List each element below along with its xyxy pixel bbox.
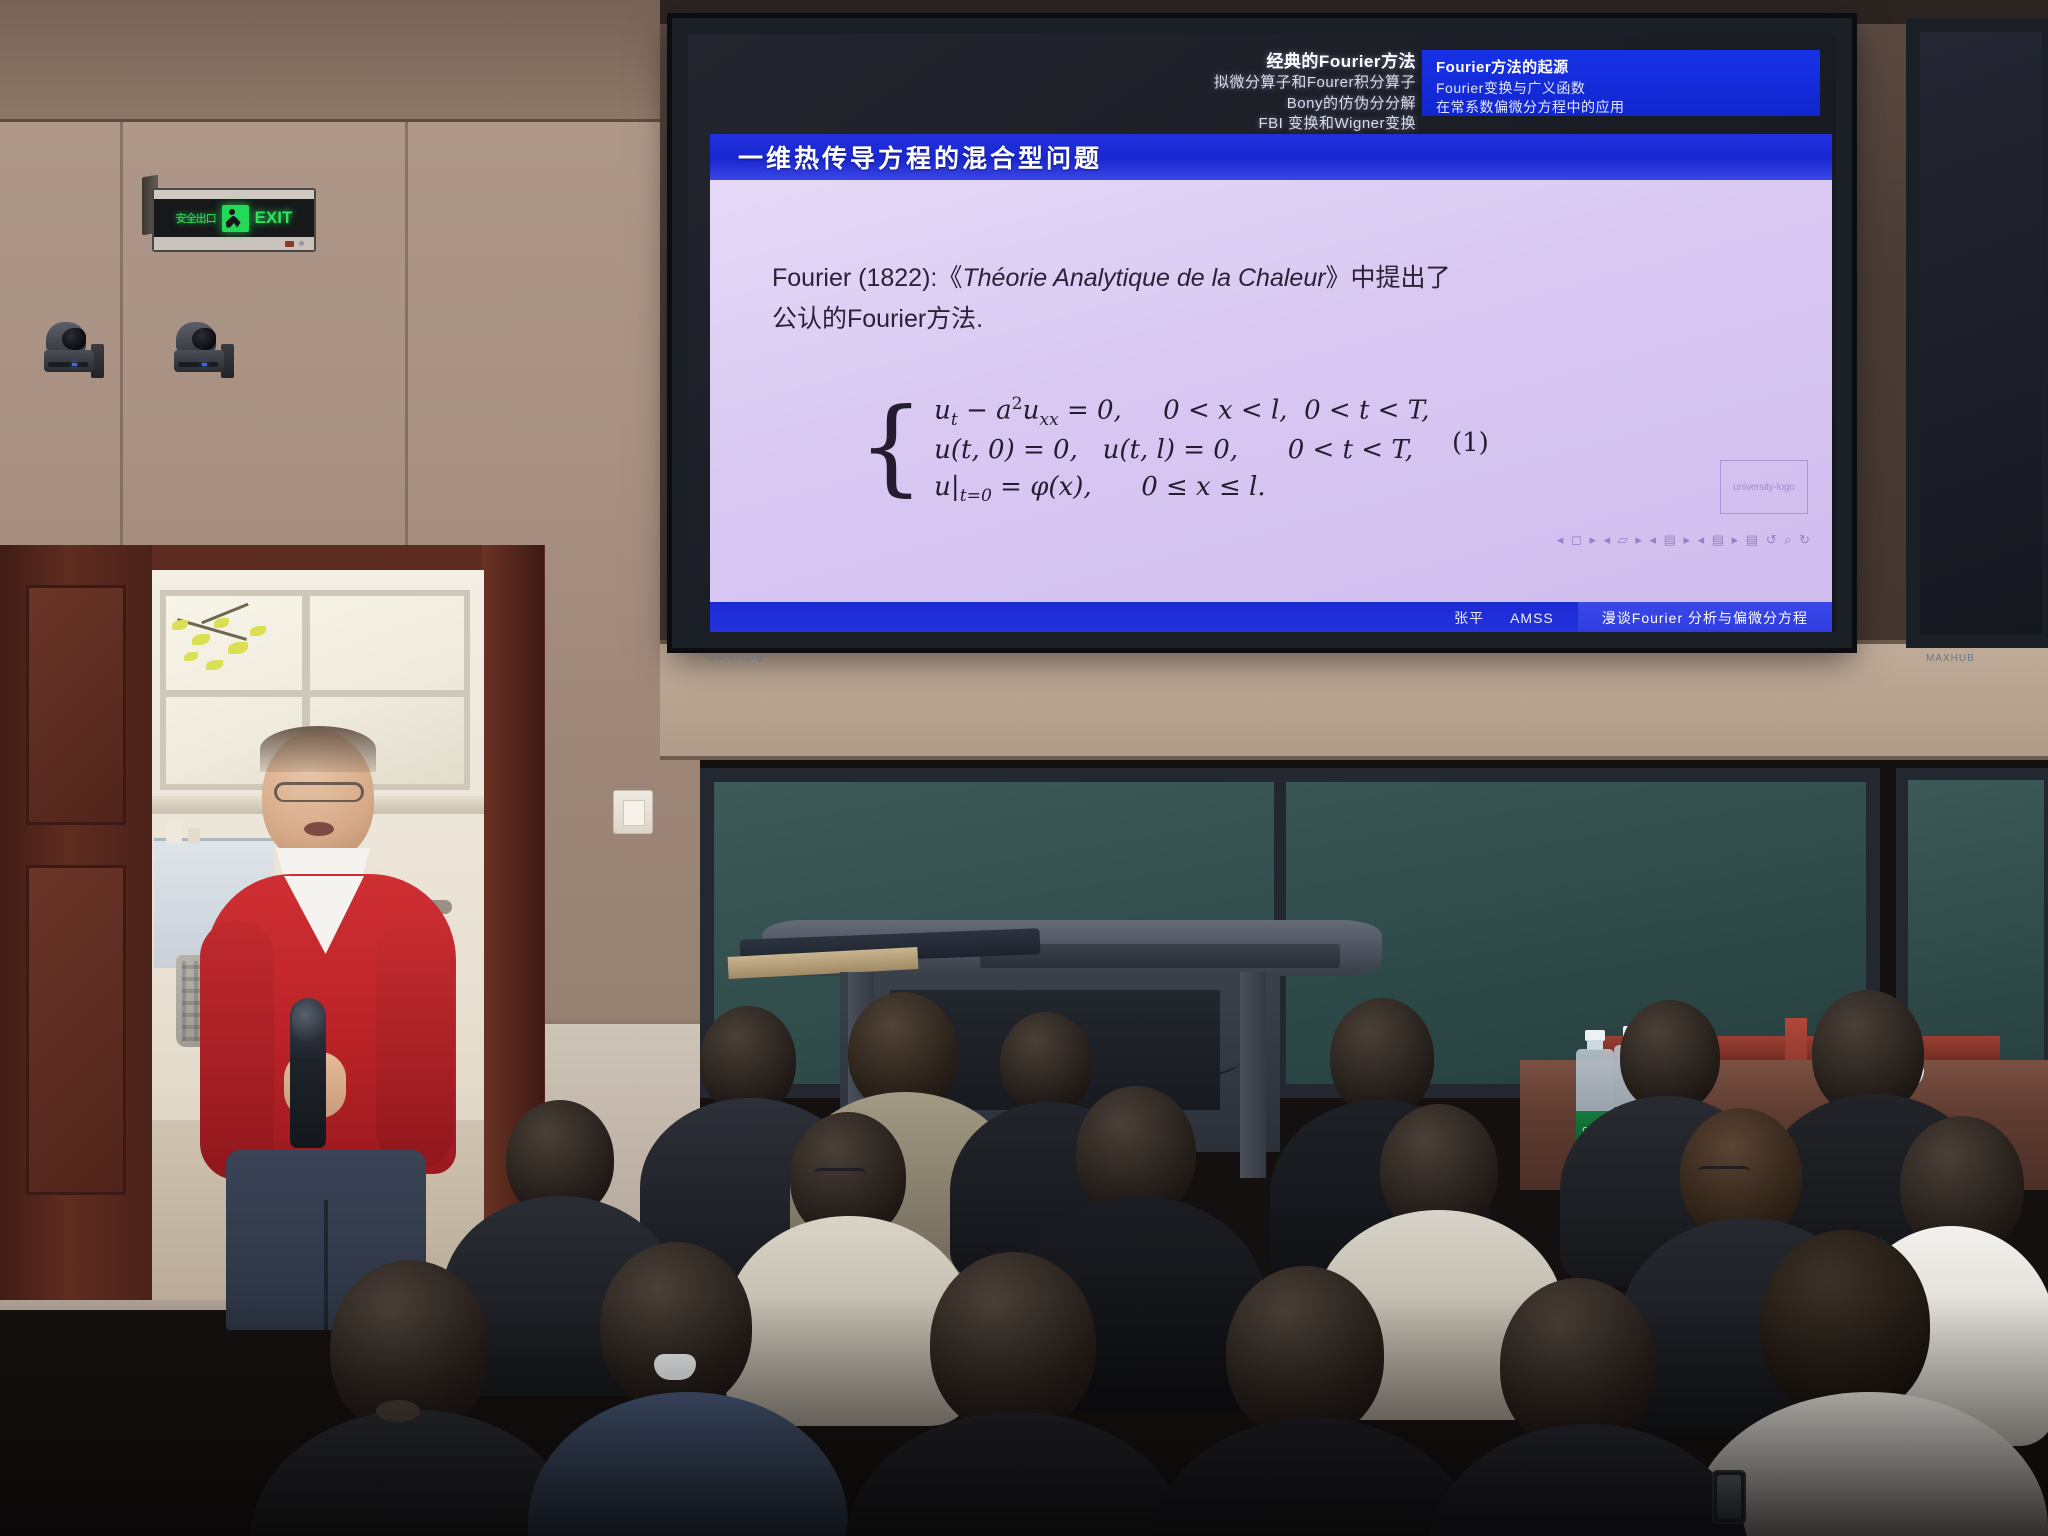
left-brace-icon: { [858,404,924,489]
equation-lines: ut − a2uxx = 0, 0 < x < l, 0 < t < T, u(… [934,392,1429,509]
audience-head [1330,998,1434,1116]
paragraph-suffix: 》中提出了 [1326,264,1451,292]
camera-strip [48,362,88,367]
camera-body [44,350,94,372]
eq1-sup: 2 [1012,394,1023,414]
right-wall-mid-strip [660,640,2048,760]
exit-sign-bottom-trim [154,237,314,250]
exit-sign-top-trim [154,190,314,199]
projection-display: 经典的Fourier方法 拟微分算子和Fourer积分算子 Bony的仿伪分分解… [672,18,1852,648]
eq3-sub: t=0 [960,486,992,506]
cabinet-items [166,822,200,844]
door-panel-upper [26,585,126,825]
eq1-eq: = 0, [1059,396,1122,426]
camera-lens-icon [192,328,216,350]
eq2-c: 0 < t < T, [1288,435,1413,465]
audience-glasses-icon [1698,1166,1750,1180]
leaf [184,652,198,661]
phone-screen [1717,1475,1741,1519]
paragraph-prefix: Fourier (1822):《 [772,264,962,292]
audience-head [600,1242,752,1410]
camera-led-icon [202,363,207,366]
audience-head [1226,1266,1384,1440]
footer-spacer [710,602,1430,632]
side-display: MAXHUB [1906,18,2048,648]
face-mask [654,1354,696,1380]
equation-line-2: u(t, 0) = 0, u(t, l) = 0, 0 < t < T, [934,432,1429,469]
ptz-camera-left [42,322,104,386]
outline-title: 经典的Fourier方法 [1214,50,1416,73]
leaf [228,642,248,654]
light-switch-plate[interactable] [613,790,653,834]
outline-line-3: FBI 变换和Wigner变换 [1214,114,1416,134]
running-person-icon [222,205,249,232]
highlight-line-2: 在常系数偏微分方程中的应用 [1436,98,1806,117]
paragraph-work-title: Théorie Analytique de la Chaleur [962,264,1325,292]
exit-label-chinese: 安全出口 [176,210,216,226]
equation-line-1: ut − a2uxx = 0, 0 < x < l, 0 < t < T, [934,392,1429,432]
leaf [214,618,229,628]
audience [0,1020,2048,1536]
highlight-title: Fourier方法的起源 [1436,58,1806,79]
footer-talk-title: 漫谈Fourier 分析与偏微分方程 [1578,602,1832,632]
leaf [172,620,188,630]
side-display-brand-label: MAXHUB [1926,653,1975,664]
speaker-mouth [304,822,334,836]
slide-body: Fourier (1822):《Théorie Analytique de la… [710,180,1832,578]
eq3-a: u| [934,472,960,502]
equation-number: (1) [1452,428,1489,458]
slide-footer: 张平 AMSS 漫谈Fourier 分析与偏微分方程 [710,602,1832,632]
eq1-sub: t [951,410,958,430]
eq1-u2: u [1023,396,1040,426]
eq1-mid: − a [958,396,1012,426]
camera-lens-icon [62,328,86,350]
eq1-cond1: 0 < x < l, [1163,396,1287,426]
footer-affiliation: AMSS [1510,610,1554,626]
camera-body [174,350,224,372]
exit-label-english: EXIT [255,208,293,228]
paragraph-line2: 公认的Fourier方法. [772,305,983,333]
presentation-outline-highlight-box: Fourier方法的起源 Fourier变换与广义函数 在常系数偏微分方程中的应… [1422,50,1820,116]
status-led-icon [285,241,294,247]
beamer-navigation-icons[interactable]: ◂ ◻ ▸ ◂ ▱ ▸ ◂ ▤ ▸ ◂ ▤ ▸ ▤ ↺ ⌕ ↻ [1557,532,1812,548]
highlight-line-1: Fourier变换与广义函数 [1436,79,1806,98]
leaf [250,626,266,636]
eq1-sub2: xx [1039,410,1058,430]
light-switch-rocker[interactable] [623,800,645,826]
audience-body [1428,1424,1748,1536]
cup-icon [166,822,182,844]
camera-head [176,322,216,352]
audience-head [1760,1230,1930,1418]
camera-led-icon [72,363,77,366]
left-wall-top-panel [0,0,700,122]
cup-icon-small [188,828,200,844]
side-display-panel [1920,32,2042,634]
exit-sign: 安全出口 EXIT [152,188,316,252]
slide-paragraph: Fourier (1822):《Théorie Analytique de la… [772,258,1632,339]
leaf [192,634,210,645]
outline-line-1: 拟微分算子和Fourer积分算子 [1214,73,1416,93]
audience-body [1150,1418,1476,1536]
camera-strip [178,362,218,367]
eq2-b: u(t, l) = 0, [1103,435,1238,465]
audience-head [930,1252,1096,1434]
audience-body [846,1412,1186,1536]
test-button-icon[interactable] [299,241,304,246]
speaker-hair [260,726,376,772]
equation-line-3: u|t=0 = φ(x), 0 ≤ x ≤ l. [934,469,1429,509]
outline-line-2: Bony的仿伪分分解 [1214,94,1416,114]
footer-author: 张平 [1454,608,1484,628]
display-brand-label: MAXHUB [706,652,765,664]
footer-author-block: 张平 AMSS [1430,602,1578,632]
eq2-a: u(t, 0) = 0, [934,435,1078,465]
eq3-c: 0 ≤ x ≤ l. [1141,472,1265,502]
audience-head [1000,1012,1092,1114]
university-logo-placeholder: university-logo [1720,460,1808,514]
slide-title-bar: 一维热传导方程的混合型问题 [710,134,1832,180]
eq3-b: = φ(x), [992,472,1092,502]
audience-glasses-icon [814,1168,866,1182]
speaker-glasses [274,782,364,802]
presentation-outline-left: 经典的Fourier方法 拟微分算子和Fourer积分算子 Bony的仿伪分分解… [1214,50,1416,134]
foliage-outside-window [166,598,286,694]
exit-sign-face: 安全出口 EXIT [154,199,314,237]
smartphone[interactable] [1712,1470,1746,1524]
ptz-camera-right [172,322,234,386]
eq1-cond2: 0 < t < T, [1304,396,1429,426]
slide-title: 一维热传导方程的混合型问题 [738,139,1102,175]
beamer-slide: 一维热传导方程的混合型问题 Fourier (1822):《Théorie An… [710,134,1832,632]
lecture-hall-screenshot: 安全出口 EXIT 经典的Fourier方法 拟微分算子和Fourer积分算子 … [0,0,2048,1536]
eq1-u: u [934,396,951,426]
camera-head [46,322,86,352]
equation-block: { ut − a2uxx = 0, 0 < x < l, 0 < t < T, … [858,392,1430,509]
wall-seam-2 [405,122,408,552]
hair-tie-icon [376,1400,420,1422]
leaf [206,660,223,670]
display-panel: 经典的Fourier方法 拟微分算子和Fourer积分算子 Bony的仿伪分分解… [688,34,1836,632]
